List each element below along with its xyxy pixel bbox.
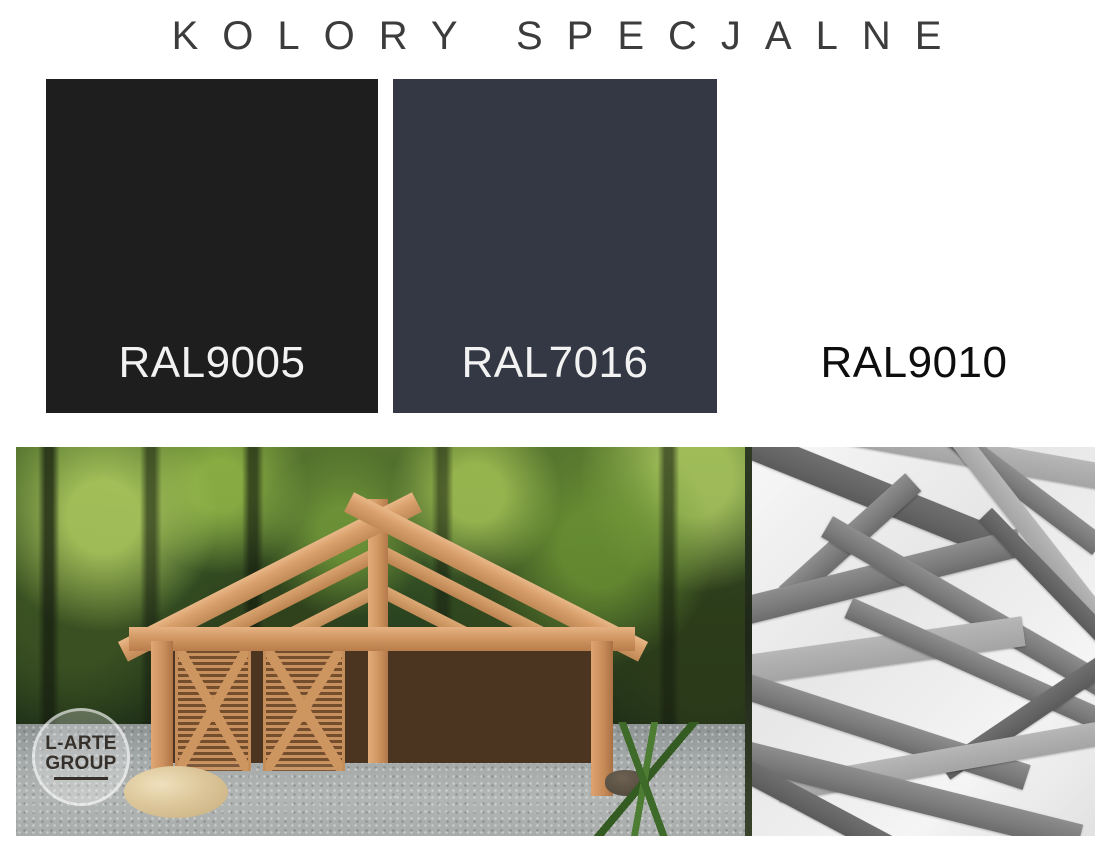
photo-row: L-ARTE GROUP — [16, 447, 1095, 836]
watermark-line-2: GROUP — [45, 754, 116, 773]
straw-bale — [124, 766, 228, 818]
bw-rafters-background — [745, 447, 1095, 836]
photo-left-edge-foliage — [745, 447, 752, 836]
swatch-label-ral7016: RAL7016 — [462, 341, 649, 413]
wooden-carport-photo[interactable]: L-ARTE GROUP — [16, 447, 745, 836]
tie-beam — [129, 627, 635, 651]
lattice-cross-brace — [266, 647, 342, 771]
lattice-panel-right — [263, 647, 345, 771]
page-title: KOLORY SPECJALNE — [0, 8, 1113, 64]
swatch-label-ral9010: RAL9010 — [821, 341, 1008, 413]
watermark-logo: L-ARTE GROUP — [32, 708, 130, 806]
swatch-ral9010[interactable]: RAL9010 — [733, 79, 1095, 413]
swatch-ral9005[interactable]: RAL9005 — [46, 79, 378, 413]
watermark-rule — [54, 777, 108, 780]
lattice-panel-left — [175, 647, 251, 771]
lattice-cross-brace — [178, 647, 248, 771]
swatch-ral7016[interactable]: RAL7016 — [393, 79, 717, 413]
color-swatch-row: RAL9005 RAL7016 RAL9010 — [0, 79, 1113, 413]
watermark-line-1: L-ARTE — [45, 734, 116, 753]
fern-plant — [569, 722, 719, 836]
roof-rafters-bw-photo[interactable] — [745, 447, 1095, 836]
swatch-label-ral9005: RAL9005 — [119, 341, 306, 413]
